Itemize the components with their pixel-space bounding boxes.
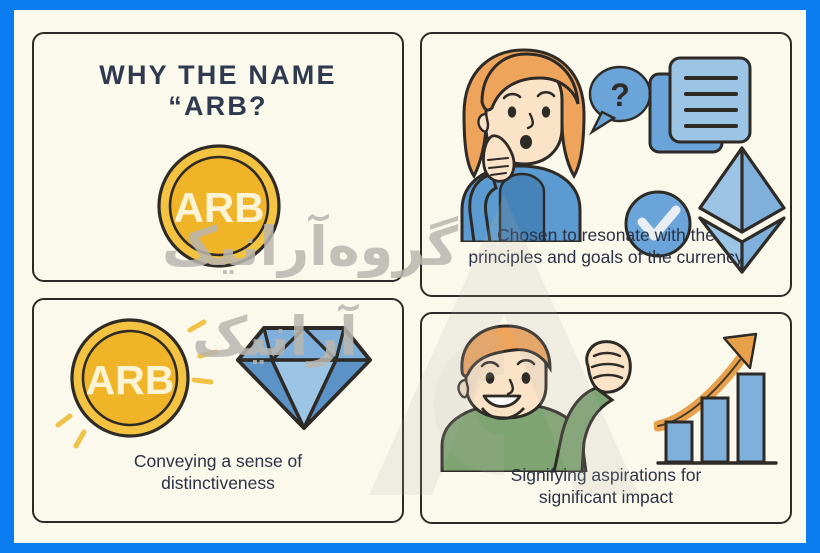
arb-coin-sparkle-icon: ARB bbox=[54, 312, 229, 452]
coin-label-distinct: ARB bbox=[86, 357, 175, 403]
page-title: WHY THE NAME “ARB? bbox=[34, 60, 402, 123]
title-line-2: “ARB? bbox=[34, 91, 402, 122]
caption-impact-line1: Signifying aspirations for bbox=[428, 464, 784, 486]
caption-distinct-line2: distinctiveness bbox=[40, 472, 396, 494]
caption-resonate-line2: principles and goals of the currency bbox=[428, 246, 784, 268]
bar-1 bbox=[666, 422, 692, 462]
question-mark-glyph: ? bbox=[610, 77, 630, 113]
panel-resonate: ? bbox=[420, 32, 792, 297]
panel-grid: WHY THE NAME “ARB? ARB bbox=[14, 10, 806, 543]
panel-title: WHY THE NAME “ARB? ARB bbox=[32, 32, 404, 282]
celebrating-man-icon bbox=[436, 322, 656, 472]
caption-distinctiveness: Conveying a sense of distinctiveness bbox=[40, 450, 396, 495]
growth-bar-chart-icon bbox=[654, 330, 782, 470]
caption-resonate: Chosen to resonate with the principles a… bbox=[428, 224, 784, 269]
bar-2 bbox=[702, 398, 728, 462]
panel-impact: Signifying aspirations for significant i… bbox=[420, 312, 792, 524]
panel-distinctiveness: ARB Conveying a sense of distinctiveness bbox=[32, 298, 404, 523]
infographic-root: گروه‌آرانیک آرانیک WHY THE NAME “ARB? AR… bbox=[0, 0, 820, 553]
bar-3 bbox=[738, 374, 764, 462]
coin-label: ARB bbox=[174, 184, 265, 231]
caption-resonate-line1: Chosen to resonate with the bbox=[428, 224, 784, 246]
gem-diamond-icon bbox=[234, 322, 374, 434]
caption-impact-line2: significant impact bbox=[428, 486, 784, 508]
caption-distinct-line1: Conveying a sense of bbox=[40, 450, 396, 472]
infographic-canvas: گروه‌آرانیک آرانیک WHY THE NAME “ARB? AR… bbox=[14, 10, 806, 543]
caption-impact: Signifying aspirations for significant i… bbox=[428, 464, 784, 509]
title-line-1: WHY THE NAME bbox=[34, 60, 402, 91]
arb-coin-icon: ARB bbox=[144, 139, 294, 274]
